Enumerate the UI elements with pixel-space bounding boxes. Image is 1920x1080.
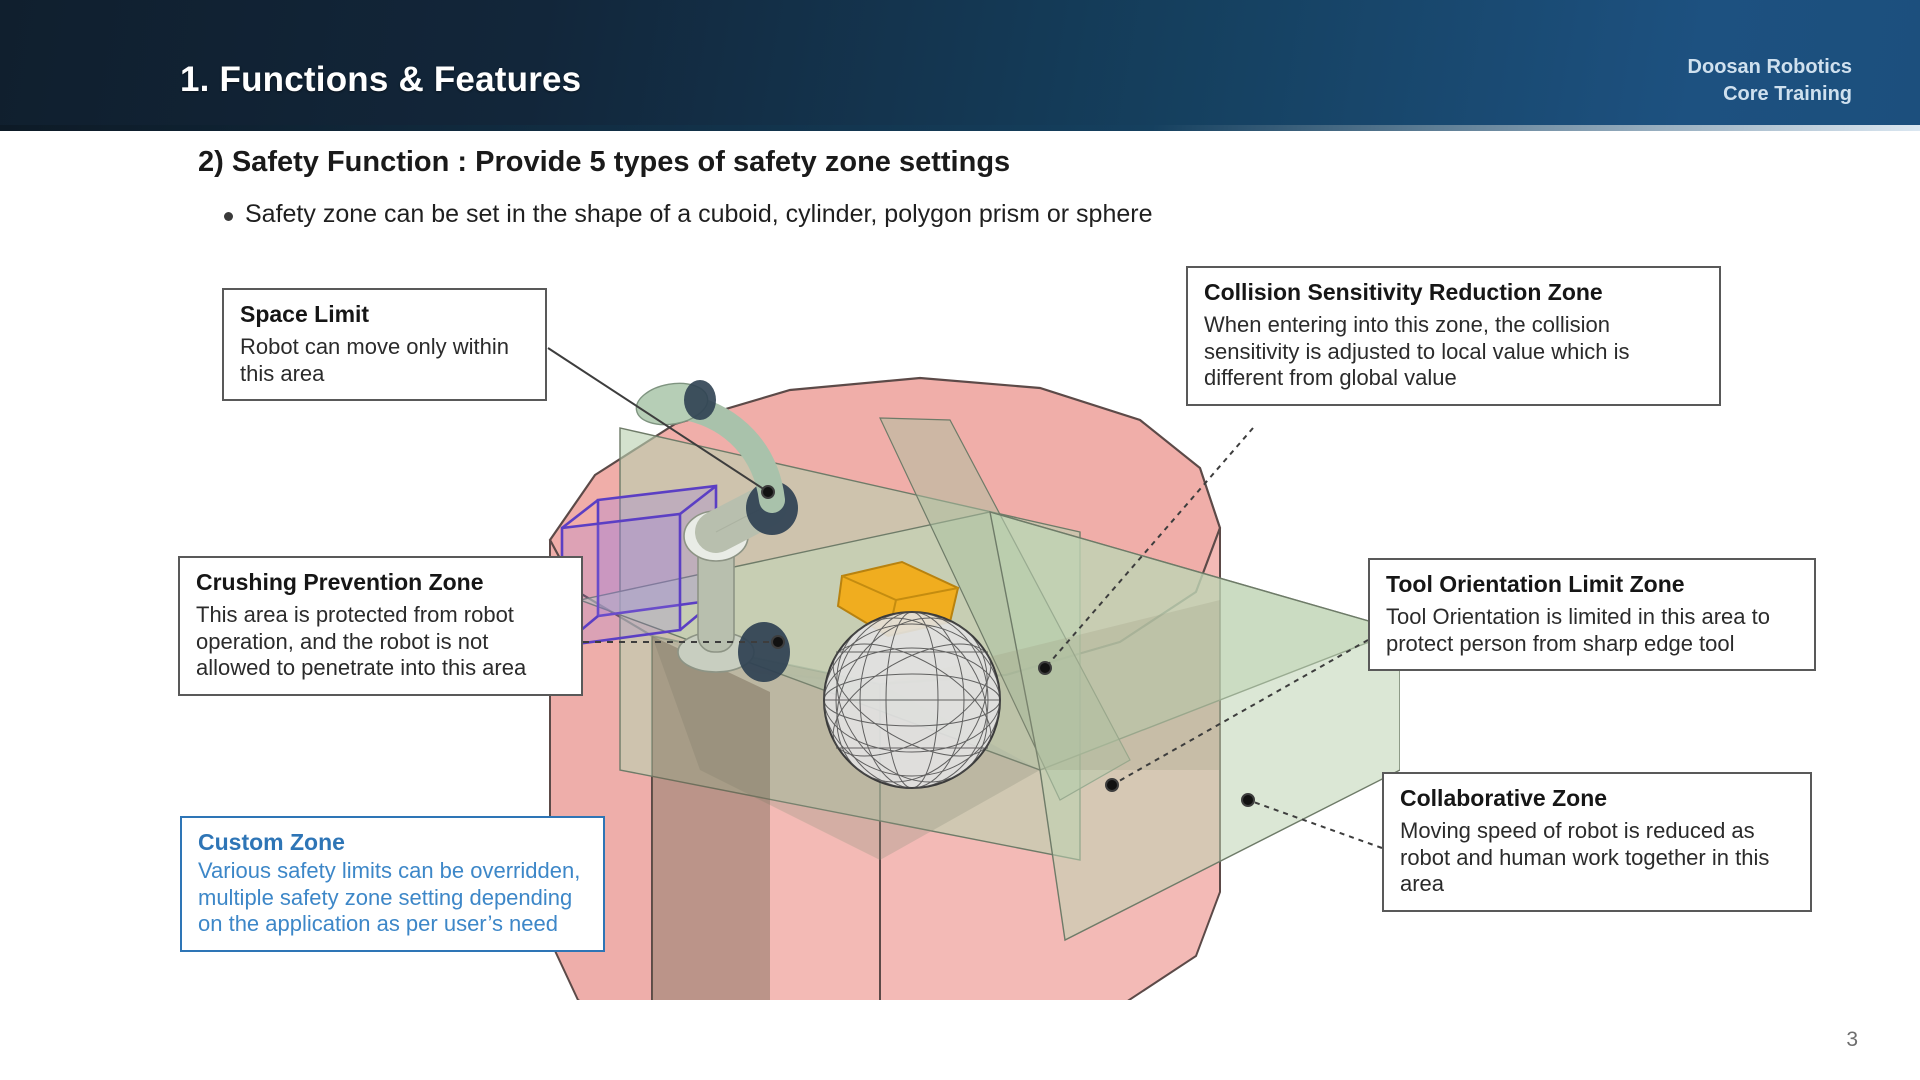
callout-collaborative-zone[interactable]: Collaborative Zone Moving speed of robot… xyxy=(1382,772,1812,912)
callout-title: Custom Zone xyxy=(198,828,589,857)
callout-body: Robot can move only within this area xyxy=(240,334,531,388)
callout-collision-sensitivity-reduction-zone[interactable]: Collision Sensitivity Reduction Zone Whe… xyxy=(1186,266,1721,406)
callout-body: This area is protected from robot operat… xyxy=(196,602,567,682)
safety-zone-diagram xyxy=(520,300,1400,1020)
callout-body: Tool Orientation is limited in this area… xyxy=(1386,604,1800,658)
callout-title: Tool Orientation Limit Zone xyxy=(1386,570,1800,599)
bullet-dot-icon xyxy=(224,212,233,221)
callout-custom-zone[interactable]: Custom Zone Various safety limits can be… xyxy=(180,816,605,952)
slide-root: 1. Functions & Features Doosan Robotics … xyxy=(0,0,1920,1080)
callout-title: Space Limit xyxy=(240,300,531,329)
bullet-row: Safety zone can be set in the shape of a… xyxy=(224,200,1153,229)
header-underline xyxy=(0,125,1920,131)
brand-line-2: Core Training xyxy=(1688,81,1852,108)
callout-title: Crushing Prevention Zone xyxy=(196,568,567,597)
section-title: 2) Safety Function : Provide 5 types of … xyxy=(198,146,1010,179)
callout-body: Moving speed of robot is reduced as robo… xyxy=(1400,818,1796,898)
brand-block: Doosan Robotics Core Training xyxy=(1688,54,1852,108)
callout-body: When entering into this zone, the collis… xyxy=(1204,312,1705,392)
bullet-text: Safety zone can be set in the shape of a… xyxy=(245,200,1153,229)
page-number: 3 xyxy=(1846,1028,1858,1052)
brand-line-1: Doosan Robotics xyxy=(1688,54,1852,81)
callout-crushing-prevention-zone[interactable]: Crushing Prevention Zone This area is pr… xyxy=(178,556,583,696)
callout-tool-orientation-limit-zone[interactable]: Tool Orientation Limit Zone Tool Orienta… xyxy=(1368,558,1816,671)
callout-title: Collision Sensitivity Reduction Zone xyxy=(1204,278,1705,307)
callout-space-limit[interactable]: Space Limit Robot can move only within t… xyxy=(222,288,547,401)
callout-title: Collaborative Zone xyxy=(1400,784,1796,813)
callout-body: Various safety limits can be overridden,… xyxy=(198,858,589,938)
page-title: 1. Functions & Features xyxy=(180,60,581,100)
